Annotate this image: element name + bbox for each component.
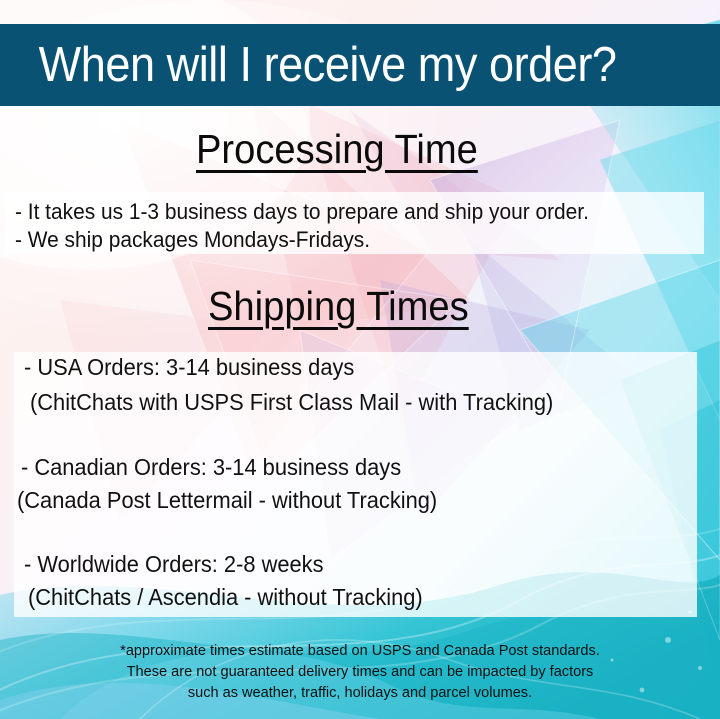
page-title: When will I receive my order? <box>0 41 617 90</box>
heading-processing-time: Processing Time <box>196 126 478 173</box>
footer-line-2: These are not guaranteed delivery times … <box>11 661 709 682</box>
footer-line-3: such as weather, traffic, holidays and p… <box>11 682 709 703</box>
shipping-entry-worldwide-detail: (ChitChats / Ascendia - without Tracking… <box>28 583 423 611</box>
shipping-entry-canada-title: - Canadian Orders: 3-14 business days <box>21 453 401 481</box>
processing-line-2: - We ship packages Mondays-Fridays. <box>15 226 370 253</box>
shipping-entry-usa-detail: (ChitChats with USPS First Class Mail - … <box>30 388 553 416</box>
poster-canvas: When will I receive my order? Processing… <box>0 0 720 719</box>
shipping-entry-worldwide-title: - Worldwide Orders: 2-8 weeks <box>24 550 324 578</box>
shipping-entry-canada-detail: (Canada Post Lettermail - without Tracki… <box>17 486 437 514</box>
processing-line-1: - It takes us 1-3 business days to prepa… <box>15 198 589 225</box>
heading-shipping-times: Shipping Times <box>208 283 469 330</box>
footer-line-1: *approximate times estimate based on USP… <box>11 640 709 661</box>
shipping-entry-usa-title: - USA Orders: 3-14 business days <box>24 353 354 381</box>
footer-disclaimer: *approximate times estimate based on USP… <box>0 640 720 703</box>
header-banner: When will I receive my order? <box>0 24 720 106</box>
